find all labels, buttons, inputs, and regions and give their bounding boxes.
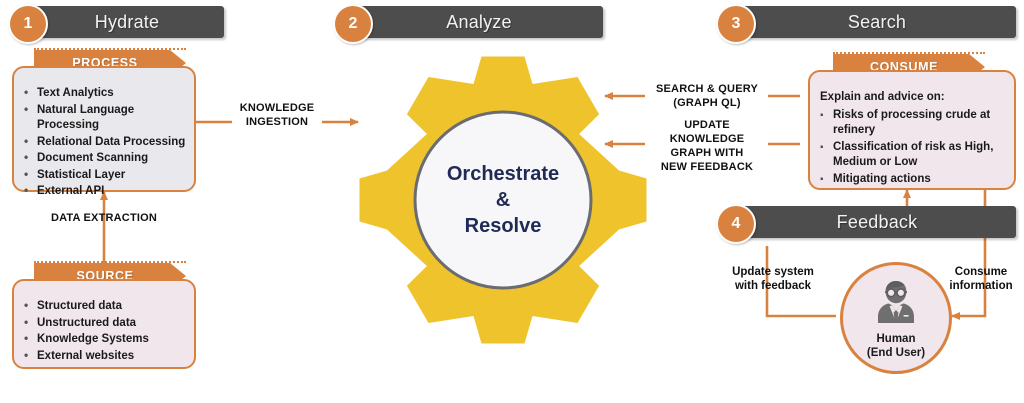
process-list: Text Analytics Natural Language Processi… [22,86,186,200]
process-item: Text Analytics [22,86,186,102]
source-panel: Structured data Unstructured data Knowle… [12,279,196,369]
label-data-extraction-text: DATA EXTRACTION [51,212,157,224]
stage-badge-2: 2 [333,4,373,44]
label-update-system-line2: with feedback [718,279,828,293]
label-consume-info-line1: Consume [938,265,1024,279]
orchestrate-gear: Orchestrate & Resolve [358,50,648,350]
stage-header-analyze: 2 Analyze [355,6,603,38]
consume-lead: Explain and advice on: [820,90,1006,106]
human-label-line2: (End User) [840,346,952,360]
label-update-kg-line2: KNOWLEDGE [646,132,768,146]
stage-title-search: Search [848,12,906,33]
process-item: Document Scanning [22,151,186,167]
label-search-query-line2: (GRAPH QL) [646,96,768,110]
consume-item: Risks of processing crude at refinery [818,108,1006,139]
label-knowledge-ingestion-line1: KNOWLEDGE [216,101,338,115]
process-panel: Text Analytics Natural Language Processi… [12,66,196,192]
process-item: External API [22,184,186,200]
consume-item: Classification of risk as High, Medium o… [818,140,1006,171]
process-item: Relational Data Processing [22,135,186,151]
label-update-kg-line1: UPDATE [646,118,768,132]
stage-number-2: 2 [349,15,358,33]
stage-title-hydrate: Hydrate [95,12,159,33]
stage-badge-3: 3 [716,4,756,44]
source-list: Structured data Unstructured data Knowle… [22,299,186,364]
stage-title-feedback: Feedback [837,212,918,233]
label-update-system: Update system with feedback [718,265,828,293]
process-item: Natural Language Processing [22,103,186,134]
label-update-kg-line3: GRAPH WITH [646,146,768,160]
gear-shape [358,50,648,350]
stage-number-1: 1 [24,15,33,33]
person-in-suit-with-glasses-icon [872,278,920,326]
consume-item: Mitigating actions [818,172,1006,188]
consume-list: Risks of processing crude at refinery Cl… [818,108,1006,188]
stage-badge-1: 1 [8,4,48,44]
stage-number-4: 4 [732,215,741,233]
stage-badge-4: 4 [716,204,756,244]
label-consume-info-line2: information [938,279,1024,293]
source-item: External websites [22,349,186,365]
stage-header-hydrate: 1 Hydrate [30,6,224,38]
label-consume-information: Consume information [938,265,1024,293]
label-search-query: SEARCH & QUERY (GRAPH QL) [646,82,768,110]
label-knowledge-ingestion: KNOWLEDGE INGESTION [216,101,338,129]
label-data-extraction: DATA EXTRACTION [24,211,184,225]
stage-title-analyze: Analyze [446,12,511,33]
diagram-canvas: 1 Hydrate PROCESS Text Analytics Natural… [0,0,1024,403]
label-update-kg-line4: NEW FEEDBACK [646,160,768,174]
label-knowledge-ingestion-line2: INGESTION [216,115,338,129]
source-item: Unstructured data [22,316,186,332]
stage-number-3: 3 [732,15,741,33]
human-label-line1: Human [840,332,952,346]
source-item: Knowledge Systems [22,332,186,348]
label-search-query-line1: SEARCH & QUERY [646,82,768,96]
process-item: Statistical Layer [22,168,186,184]
consume-panel: Explain and advice on: Risks of processi… [808,70,1016,190]
label-update-system-line1: Update system [718,265,828,279]
label-update-knowledge-graph: UPDATE KNOWLEDGE GRAPH WITH NEW FEEDBACK [646,118,768,174]
stage-header-search: 3 Search [738,6,1016,38]
human-end-user-caption: Human (End User) [840,332,952,360]
source-item: Structured data [22,299,186,315]
stage-header-feedback: 4 Feedback [738,206,1016,238]
